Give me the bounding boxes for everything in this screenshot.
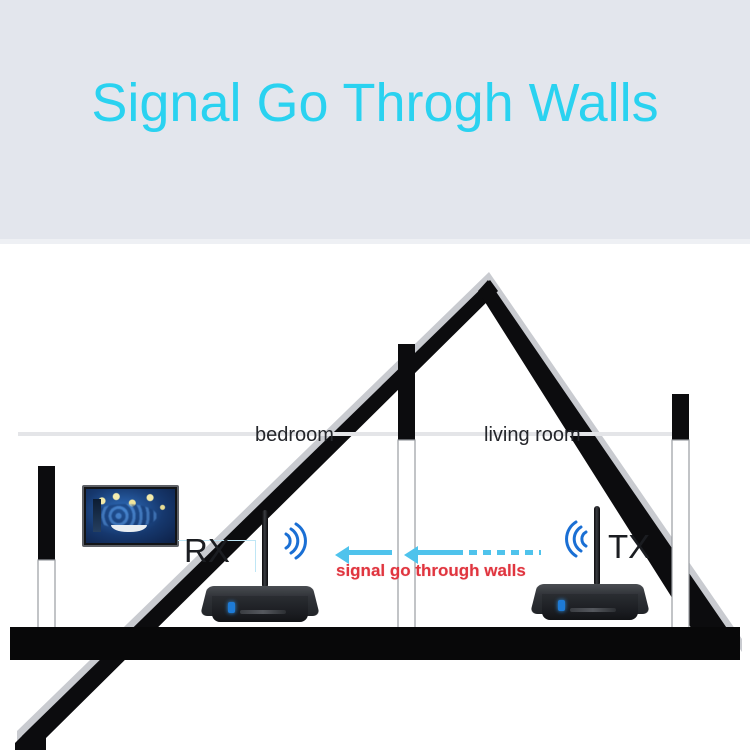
rx-status-led	[228, 602, 235, 613]
tx-antenna	[594, 506, 600, 586]
tv-screen-image	[86, 489, 175, 543]
signal-dotted-trail	[455, 550, 541, 555]
tx-status-led	[558, 600, 565, 611]
floor-slab	[10, 627, 740, 660]
rx-front-strip	[240, 610, 286, 614]
signal-walls-infographic: Signal Go Throgh Walls	[0, 0, 750, 750]
signal-arrow-shaft-right	[417, 550, 455, 555]
wall-far-left-lower	[38, 560, 55, 630]
tx-front-strip	[570, 608, 616, 612]
tx-body-front	[542, 594, 638, 620]
device-label-tx: TX	[608, 528, 650, 566]
wall-far-left-top	[38, 466, 55, 562]
room-label-bedroom: bedroom	[255, 424, 334, 447]
television	[82, 485, 179, 547]
signal-arrow-shaft-left	[348, 550, 392, 555]
rx-body-front	[212, 596, 308, 622]
wall-middle-top	[398, 344, 415, 442]
wall-right-lower	[672, 440, 689, 630]
room-label-living-room: living room	[484, 424, 581, 447]
wall-middle-lower	[398, 440, 415, 630]
page-title: Signal Go Throgh Walls	[0, 72, 750, 134]
wall-right-top	[672, 394, 689, 442]
house-diagram: bedroom living room RX	[0, 244, 750, 750]
signal-caption: signal go through walls	[336, 561, 526, 581]
tv-artwork-tower	[93, 499, 101, 532]
header-banner: Signal Go Throgh Walls	[0, 0, 750, 243]
rx-antenna	[262, 510, 268, 588]
device-label-rx: RX	[184, 532, 230, 570]
tv-artwork-boat	[111, 525, 147, 533]
